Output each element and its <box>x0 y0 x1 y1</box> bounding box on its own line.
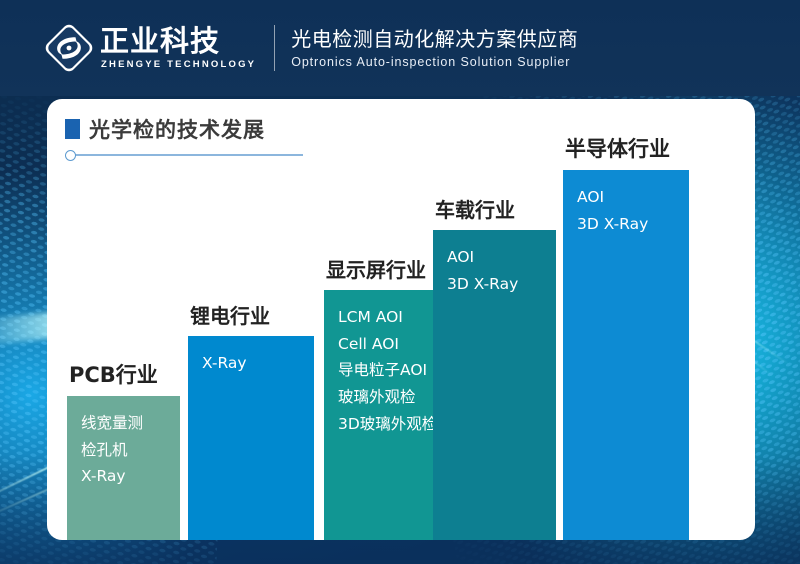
title-square-bullet-icon <box>65 119 80 139</box>
chart-column-label: 半导体行业 <box>565 133 670 170</box>
brand-text: 正业科技 ZHENGYE TECHNOLOGY <box>96 26 256 70</box>
chart-bar[interactable]: AOI3D X-Ray <box>433 230 556 540</box>
page-title: 光学检的技术发展 <box>89 114 265 144</box>
brand-name-cn: 正业科技 <box>100 26 256 56</box>
chart-column[interactable]: PCB行业线宽量测检孔机X-Ray <box>67 396 180 540</box>
chart-bar-item: X-Ray <box>81 463 180 490</box>
brand-logo: 正业科技 ZHENGYE TECHNOLOGY <box>42 21 256 75</box>
chart-column-label: 车载行业 <box>435 194 515 230</box>
chart-bar-item: 3D X-Ray <box>447 271 556 298</box>
chart-bar-item: AOI <box>447 244 556 271</box>
chart-bar-item: 线宽量测 <box>81 410 180 437</box>
chart-column-label: 锂电行业 <box>190 300 270 336</box>
brand-name-en: ZHENGYE TECHNOLOGY <box>101 59 256 70</box>
chart-column[interactable]: 车载行业AOI3D X-Ray <box>433 230 556 540</box>
title-underline-line <box>73 154 303 156</box>
industry-technology-bar-chart: PCB行业线宽量测检孔机X-Ray锂电行业X-Ray显示屏行业LCM AOICe… <box>47 99 755 540</box>
zhengye-swirl-logo-icon <box>42 21 96 75</box>
chart-bar-item: AOI <box>577 184 689 211</box>
chart-bar-item: X-Ray <box>202 350 314 377</box>
header-slogan: 光电检测自动化解决方案供应商 Optronics Auto-inspection… <box>291 27 578 69</box>
slogan-en: Optronics Auto-inspection Solution Suppl… <box>291 55 578 69</box>
chart-bar[interactable]: X-Ray <box>188 336 314 540</box>
chart-column-label: 显示屏行业 <box>326 254 426 290</box>
slogan-cn: 光电检测自动化解决方案供应商 <box>291 27 578 52</box>
chart-column-label: PCB行业 <box>69 359 158 396</box>
chart-column[interactable]: 半导体行业AOI3D X-Ray <box>563 170 689 540</box>
section-title-block: 光学检的技术发展 <box>65 114 365 160</box>
page-header: 正业科技 ZHENGYE TECHNOLOGY 光电检测自动化解决方案供应商 O… <box>0 0 800 96</box>
section-title-row: 光学检的技术发展 <box>65 114 365 144</box>
chart-bar-item: 3D X-Ray <box>577 211 689 238</box>
chart-bar[interactable]: 线宽量测检孔机X-Ray <box>67 396 180 540</box>
chart-bar-item: 检孔机 <box>81 437 180 464</box>
header-divider <box>274 25 275 71</box>
title-underline-circle-icon <box>65 150 76 161</box>
title-underline <box>65 150 365 160</box>
content-card: PCB行业线宽量测检孔机X-Ray锂电行业X-Ray显示屏行业LCM AOICe… <box>47 99 755 540</box>
chart-bar[interactable]: AOI3D X-Ray <box>563 170 689 540</box>
chart-column[interactable]: 锂电行业X-Ray <box>188 336 314 540</box>
